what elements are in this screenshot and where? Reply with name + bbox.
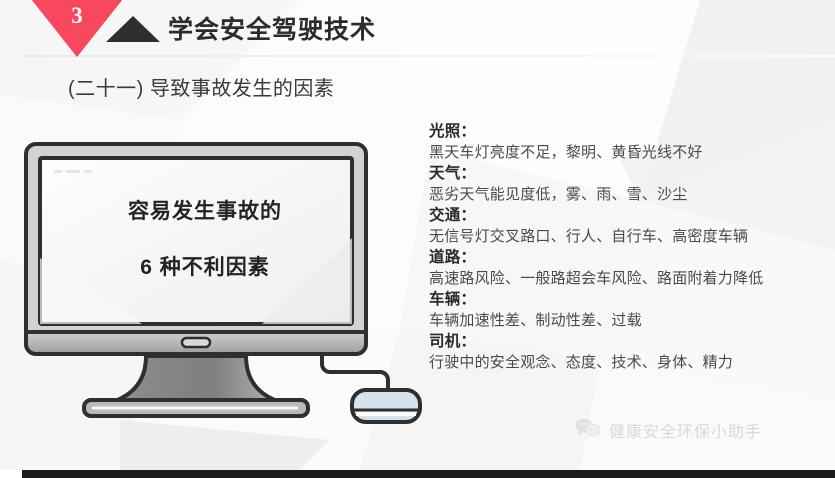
factor-heading: 道路： <box>429 248 829 268</box>
factor-item: 司机： 行驶中的安全观念、态度、技术、身体、精力 <box>429 332 829 373</box>
wechat-bubble-icon <box>575 417 601 442</box>
watermark-label: 健康安全环保小助手 <box>609 418 762 442</box>
factor-description: 恶劣天气能见度低，雾、雨、雪、沙尘 <box>429 184 829 205</box>
monitor-illustration <box>22 138 422 438</box>
screen-headline-line2: 6 种不利因素 <box>55 251 355 281</box>
factor-item: 车辆： 车辆加速性差、制动性差、过载 <box>429 290 829 331</box>
screen-headline-line1: 容易发生事故的 <box>55 195 355 225</box>
factor-description: 行驶中的安全观念、态度、技术、身体、精力 <box>429 352 829 373</box>
factors-list: 光照： 黑天车灯亮度不足，黎明、黄昏光线不好 天气： 恶劣天气能见度低，雾、雨、… <box>429 122 829 374</box>
factor-description: 黑天车灯亮度不足，黎明、黄昏光线不好 <box>429 142 829 163</box>
factor-item: 天气： 恶劣天气能见度低，雾、雨、雪、沙尘 <box>429 164 829 205</box>
page-title: 学会安全驾驶技术 <box>168 10 376 46</box>
factor-description: 车辆加速性差、制动性差、过载 <box>429 310 829 331</box>
factor-description: 无信号灯交叉路口、行人、自行车、高密度车辆 <box>429 226 829 247</box>
triangle-up-icon <box>106 16 160 42</box>
bottom-left-padding <box>0 470 22 478</box>
header-divider <box>22 55 835 57</box>
watermark: 健康安全环保小助手 <box>575 417 762 442</box>
factor-item: 光照： 黑天车灯亮度不足，黎明、黄昏光线不好 <box>429 122 829 163</box>
factor-heading: 光照： <box>429 122 829 142</box>
factor-item: 道路： 高速路风险、一般路超会车风险、路面附着力降低 <box>429 248 829 289</box>
factor-heading: 车辆： <box>429 290 829 310</box>
monitor-screen-text: 容易发生事故的 6 种不利因素 <box>55 195 355 281</box>
page-subtitle: (二十一) 导致事故发生的因素 <box>68 72 334 101</box>
factor-heading: 司机： <box>429 332 829 352</box>
factor-heading: 天气： <box>429 164 829 184</box>
factor-description: 高速路风险、一般路超会车风险、路面附着力降低 <box>429 268 829 289</box>
bottom-bar <box>22 470 835 478</box>
factor-heading: 交通： <box>429 206 829 226</box>
factor-item: 交通： 无信号灯交叉路口、行人、自行车、高密度车辆 <box>429 206 829 247</box>
slide-canvas: 3 学会安全驾驶技术 (二十一) 导致事故发生的因素 <box>0 0 835 478</box>
